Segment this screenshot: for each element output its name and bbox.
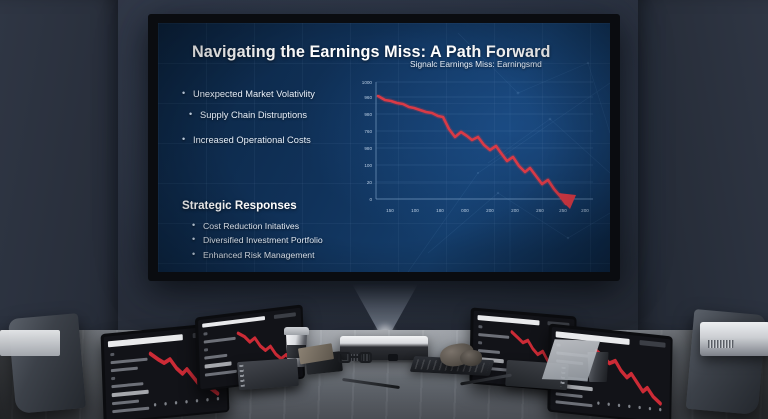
y-tick-label: 100 bbox=[364, 163, 372, 168]
wall-panel-left bbox=[0, 0, 118, 330]
cup-lid bbox=[284, 327, 309, 335]
projector-lens bbox=[388, 354, 398, 361]
slide-sub-heading: Strategic Responses bbox=[182, 199, 297, 212]
bullet-item: Supply Chain Distruptions bbox=[189, 110, 315, 122]
equipment-vent bbox=[708, 340, 734, 348]
bullet-item: Diversified Investment Portfolio bbox=[192, 235, 323, 246]
notebook bbox=[237, 358, 299, 390]
bullet-item: Enhanced Risk Management bbox=[192, 250, 323, 261]
primary-bullet-list: Unexpected Market Volativlity Supply Cha… bbox=[182, 89, 315, 156]
chart-line-glow bbox=[378, 96, 566, 204]
y-tick-label: 760 bbox=[364, 129, 372, 134]
chart-x-tick-labels: 150 100 180 000 200 200 260 250 200 bbox=[386, 208, 589, 213]
x-tick-label: 200 bbox=[511, 208, 519, 213]
x-tick-label: 000 bbox=[461, 208, 469, 213]
chart-plot-area: 1000 960 980 760 980 100 20 0 150 100 18… bbox=[348, 74, 598, 225]
slide-canvas: Navigating the Earnings Miss: A Path For… bbox=[158, 23, 610, 272]
x-tick-label: 200 bbox=[486, 208, 494, 213]
chart-gridlines bbox=[376, 82, 593, 199]
tablet-header-badge bbox=[274, 312, 297, 319]
tablet-chart-axis-dots bbox=[598, 401, 662, 411]
chart-y-tick-labels: 1000 960 980 760 980 100 20 0 bbox=[362, 80, 373, 202]
conference-room-scene: Navigating the Earnings Miss: A Path For… bbox=[0, 0, 768, 419]
x-tick-label: 260 bbox=[536, 208, 544, 213]
x-tick-label: 180 bbox=[436, 208, 444, 213]
equipment-box-right bbox=[700, 322, 768, 356]
glasses bbox=[338, 352, 372, 366]
chart-title: Signalc Earnings Miss: Earningsmd bbox=[410, 59, 600, 69]
x-tick-label: 150 bbox=[386, 208, 394, 213]
presentation-screen[interactable]: Navigating the Earnings Miss: A Path For… bbox=[148, 14, 620, 281]
tablet-chart-axis-dots bbox=[154, 397, 219, 407]
tablet-header-badge bbox=[639, 340, 665, 348]
y-tick-label: 1000 bbox=[362, 80, 373, 85]
x-tick-label: 250 bbox=[559, 208, 567, 213]
wall-panel-right bbox=[638, 0, 768, 330]
earnings-line-chart: Signalc Earnings Miss: Earningsmd bbox=[348, 59, 598, 225]
y-tick-label: 980 bbox=[364, 112, 372, 117]
chair-left bbox=[8, 313, 86, 414]
y-tick-label: 980 bbox=[364, 146, 372, 151]
chart-data-line bbox=[378, 96, 566, 204]
secondary-bullet-list: Cost Reduction Initatives Diversified In… bbox=[192, 221, 323, 264]
bullet-item: Unexpected Market Volativlity bbox=[182, 89, 315, 101]
y-tick-label: 20 bbox=[367, 180, 373, 185]
x-tick-label: 100 bbox=[411, 208, 419, 213]
bullet-item: Cost Reduction Initatives bbox=[192, 221, 323, 232]
paper-tray-left bbox=[0, 330, 60, 356]
bullet-item: Increased Operational Costs bbox=[182, 135, 315, 147]
x-tick-label: 200 bbox=[581, 208, 589, 213]
decor-stone-small bbox=[460, 350, 482, 366]
notebook-rings bbox=[239, 365, 245, 387]
y-tick-label: 960 bbox=[364, 95, 372, 100]
y-tick-label: 0 bbox=[369, 197, 372, 202]
